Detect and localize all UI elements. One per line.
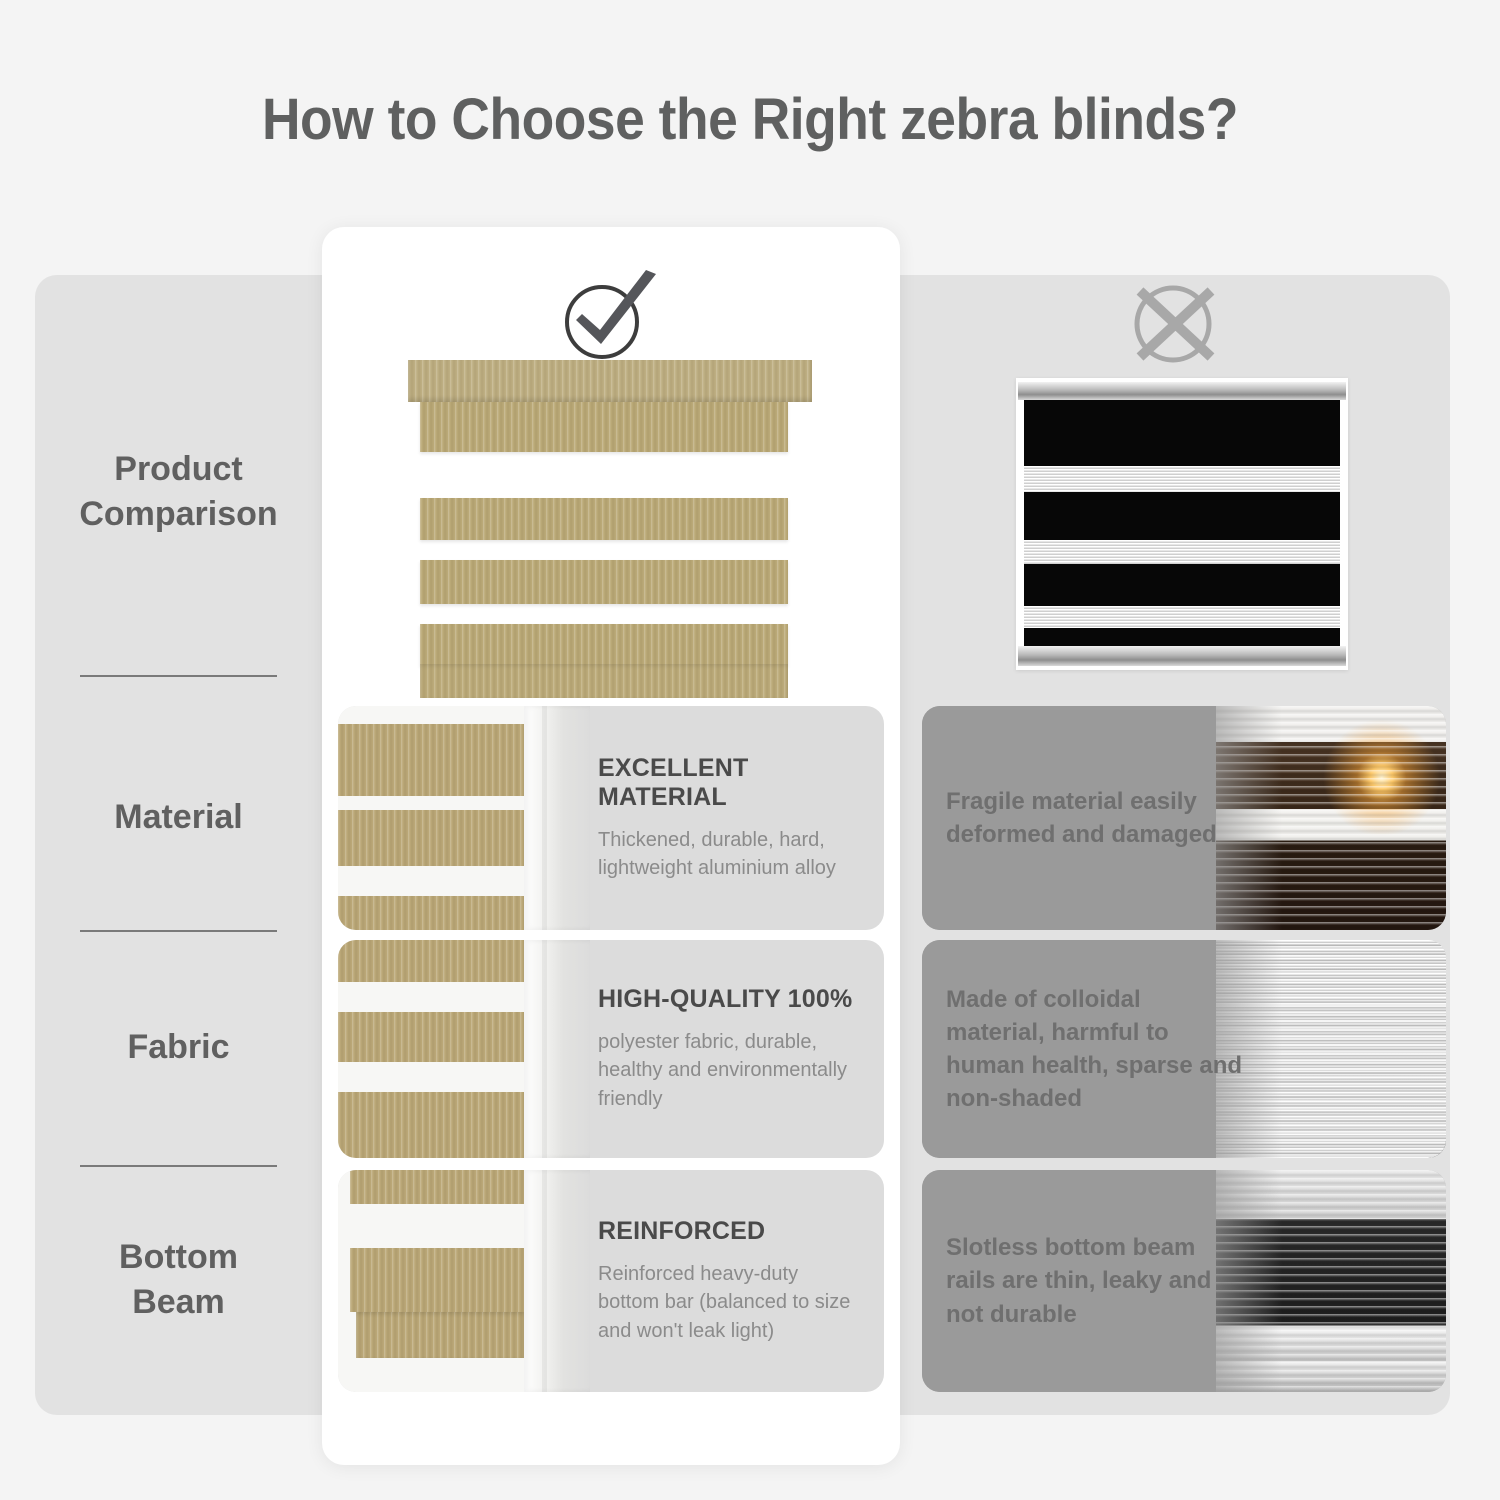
bad-feature-text: Fragile material easily deformed and dam… [946,785,1246,851]
row-label-bottom-beam: Bottom Beam [35,1235,322,1325]
bad-feature-material: Fragile material easily deformed and dam… [922,706,1446,930]
tan-band [350,1248,524,1312]
bad-blind-bottom-rail [1018,646,1346,666]
hero-image-good-blind [408,360,812,698]
row-divider-1 [80,675,277,677]
bad-blind-sheer-band-2 [1024,540,1340,564]
row-label-line-2: Comparison [79,495,277,533]
good-feature-body: Reinforced heavy-duty bottom bar (balanc… [598,1260,858,1345]
good-feature-body: Thickened, durable, hard, lightweight al… [598,826,858,883]
tan-band [338,1012,524,1062]
row-divider-3 [80,1165,277,1167]
blind-closeup-fabric [338,940,590,1158]
bad-blind-sheer-band-1 [1024,466,1340,492]
good-feature-material-image [338,706,590,930]
bad-blind-black-band-3 [1024,564,1340,606]
good-feature-body: polyester fabric, durable, healthy and e… [598,1028,858,1113]
tan-band [338,1092,524,1158]
bad-blind-sheer-band-3 [1024,606,1340,628]
bad-feature-material-copy: Fragile material easily deformed and dam… [922,706,1246,930]
good-feature-material-copy: EXCELLENT MATERIAL Thickened, durable, h… [590,706,884,930]
reinforced-bottom-bar [356,1312,524,1358]
blind-closeup-material [338,706,590,930]
cross-circle-icon [1122,278,1224,370]
tan-band [338,896,524,930]
bad-feature-fabric: Made of colloidal material, harmful to h… [922,940,1446,1158]
bad-blind-black-band-4 [1024,628,1340,648]
blind-bottom-bar [420,664,788,698]
good-feature-bottom-beam: REINFORCED Reinforced heavy-duty bottom … [338,1170,884,1392]
row-label-material: Material [35,795,322,840]
row-label-line-2: Beam [132,1283,225,1321]
bad-blind-black-band-1 [1024,400,1340,466]
blind-slat-1 [420,402,788,452]
window-frame [524,706,590,930]
good-feature-bottom-beam-copy: REINFORCED Reinforced heavy-duty bottom … [590,1170,884,1392]
row-label-column: Product Comparison Material Fabric Botto… [35,275,322,1415]
row-label-product-comparison: Product Comparison [35,447,322,537]
bad-blind-headrail [1018,382,1346,400]
tan-band [350,1170,524,1204]
good-feature-material: EXCELLENT MATERIAL Thickened, durable, h… [338,706,884,930]
blind-slat-2 [420,498,788,540]
page-title: How to Choose the Right zebra blinds? [60,86,1440,153]
row-label-line-1: Bottom [119,1238,238,1276]
hero-image-bad-blind [1016,378,1348,670]
good-feature-title: REINFORCED [598,1217,858,1246]
bad-blind-black-band-2 [1024,492,1340,540]
row-label-line-1: Product [114,450,242,488]
tan-band [338,724,524,796]
good-feature-fabric-copy: HIGH-QUALITY 100% polyester fabric, dura… [590,940,884,1158]
window-frame [524,940,590,1158]
good-feature-fabric: HIGH-QUALITY 100% polyester fabric, dura… [338,940,884,1158]
bad-feature-bottom-beam: Slotless bottom beam rails are thin, lea… [922,1170,1446,1392]
blind-closeup-bottom-beam [338,1170,590,1392]
check-circle-icon [556,268,666,364]
good-feature-bottom-beam-image [338,1170,590,1392]
window-frame [524,1170,590,1392]
good-feature-title: HIGH-QUALITY 100% [598,985,858,1014]
bad-feature-text: Slotless bottom beam rails are thin, lea… [946,1231,1246,1330]
row-label-fabric: Fabric [35,1025,322,1070]
good-feature-title: EXCELLENT MATERIAL [598,754,858,812]
row-divider-2 [80,930,277,932]
bad-feature-text: Made of colloidal material, harmful to h… [946,983,1246,1115]
blind-slat-3 [420,560,788,604]
bad-feature-fabric-copy: Made of colloidal material, harmful to h… [922,940,1246,1158]
tan-band [338,810,524,866]
blind-headrail [408,360,812,402]
bad-feature-bottom-beam-copy: Slotless bottom beam rails are thin, lea… [922,1170,1246,1392]
good-feature-fabric-image [338,940,590,1158]
blind-slat-4 [420,624,788,666]
tan-band [338,940,524,982]
